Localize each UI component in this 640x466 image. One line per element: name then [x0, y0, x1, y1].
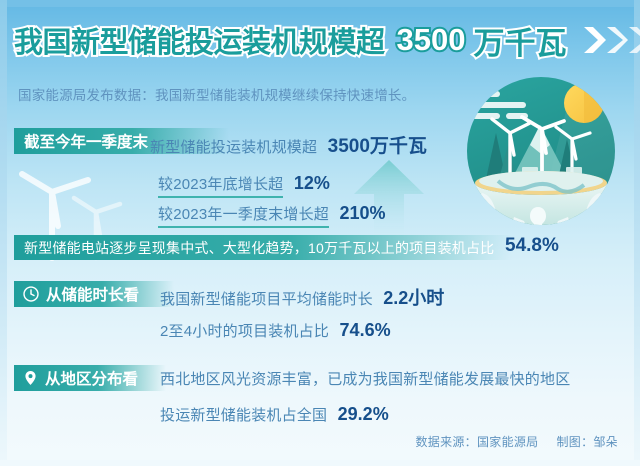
label-pill-region: 从地区分布看 — [14, 365, 166, 391]
frame-edge-top — [0, 0, 640, 7]
title-unit: 万千瓦 — [473, 18, 566, 63]
clock-icon — [22, 285, 40, 303]
section-row-northwest: 西北地区风光资源丰富，已成为我国新型储能发展最快的地区 — [160, 368, 570, 389]
frame-edge-bottom — [0, 460, 640, 466]
chevron-right-icon — [606, 25, 628, 55]
row-value: 3500万千瓦 — [328, 136, 427, 157]
pill-label-text: 新型储能电站逐步呈现集中式、大型化趋势，10万千瓦以上的项目装机占比 — [24, 238, 494, 258]
section-row-2to4h-share: 2至4小时的项目装机占比 74.6% — [160, 320, 391, 341]
frame-edge-right — [634, 0, 640, 466]
section-row-installed-scale: 新型储能投运装机规模超 3500万千瓦 — [150, 131, 427, 158]
row-value: 54.8% — [505, 235, 559, 256]
chevron-right-icon — [584, 25, 606, 55]
lead-paragraph: 国家能源局发布数据：我国新型储能装机规模继续保持快速增长。 — [18, 84, 415, 104]
row-value: 29.2% — [338, 404, 389, 424]
row-value: 12% — [294, 173, 330, 193]
row-text: 较2023年一季度末增长超 — [158, 206, 329, 228]
chevron-group — [584, 25, 640, 55]
row-text: 较2023年底增长超 — [158, 176, 283, 198]
location-pin-icon — [22, 369, 39, 387]
title-number: 3500 — [397, 22, 466, 58]
row-value: 2.2小时 — [383, 288, 444, 308]
title-main-text: 我国新型储能投运装机规模超 — [14, 19, 385, 61]
section-row-growth-vs-2023end: 较2023年底增长超 12% — [158, 173, 330, 194]
section-row-growth-vs-2023q1: 较2023年一季度末增长超 210% — [158, 203, 385, 224]
chevron-right-icon — [628, 25, 640, 55]
infographic-poster: 我国新型储能投运装机规模超 3500 万千瓦 国家能源局发布数据：我国新型储能装… — [0, 0, 640, 466]
pill-label-text: 截至今年一季度末 — [24, 130, 148, 152]
row-text: 新型储能投运装机规模超 — [150, 139, 317, 156]
label-pill-large-plants: 新型储能电站逐步呈现集中式、大型化趋势，10万千瓦以上的项目装机占比 — [14, 235, 512, 260]
frame-edge-left — [0, 0, 7, 466]
row-text: 2至4小时的项目装机占比 — [160, 323, 329, 340]
section-row-national-share: 投运新型储能装机占全国 29.2% — [160, 404, 389, 425]
pill-label-text: 从地区分布看 — [45, 367, 138, 389]
pill-label-text: 从储能时长看 — [46, 283, 139, 305]
row-text: 我国新型储能项目平均储能时长 — [160, 291, 373, 308]
section-row-large-plant-share: 54.8% — [505, 235, 559, 257]
up-arrow-icon — [352, 158, 426, 236]
section-row-avg-duration: 我国新型储能项目平均储能时长 2.2小时 — [160, 284, 444, 310]
row-text: 西北地区风光资源丰富，已成为我国新型储能发展最快的地区 — [160, 371, 570, 388]
label-pill-duration: 从储能时长看 — [14, 281, 174, 307]
footer-source: 数据来源：国家能源局 — [415, 433, 538, 450]
footer-credits: 数据来源：国家能源局 制图：邹朵 — [415, 433, 618, 450]
poster-title: 我国新型储能投运装机规模超 3500 万千瓦 — [14, 16, 640, 64]
eco-energy-scene-icon — [452, 67, 630, 245]
row-value: 210% — [339, 203, 385, 223]
footer-credit: 制图：邹朵 — [556, 433, 618, 450]
row-text: 投运新型储能装机占全国 — [160, 407, 327, 424]
row-value: 74.6% — [340, 320, 391, 340]
